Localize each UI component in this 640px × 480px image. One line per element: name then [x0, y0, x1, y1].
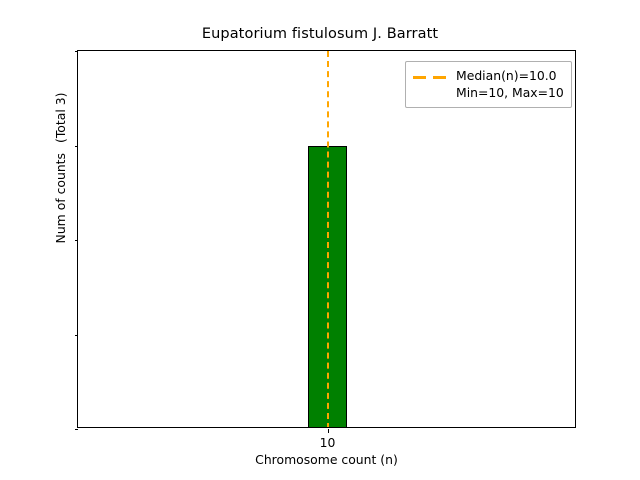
chart-figure: Eupatorium fistulosum J. Barratt 4 3 2 1… — [0, 0, 640, 480]
median-line — [327, 51, 329, 427]
ytick-mark-1 — [75, 335, 79, 336]
y-axis-label-line1: Num of counts — [53, 153, 68, 243]
x-axis-label: Chromosome count (n) — [77, 452, 576, 467]
xtick-mark-10 — [328, 429, 329, 433]
y-axis-label-line2: (Total 3) — [53, 93, 68, 143]
legend-row: Median(n)=10.0 Min=10, Max=10 — [413, 68, 564, 101]
legend-median-label: Median(n)=10.0 — [456, 68, 564, 85]
xtick-label-10: 10 — [298, 435, 358, 450]
ytick-mark-3 — [75, 146, 79, 147]
ytick-mark-2 — [75, 240, 79, 241]
legend-texts: Median(n)=10.0 Min=10, Max=10 — [456, 68, 564, 101]
legend: Median(n)=10.0 Min=10, Max=10 — [405, 61, 572, 108]
chart-title: Eupatorium fistulosum J. Barratt — [0, 26, 640, 42]
y-axis-label: Num of counts (Total 3) — [40, 0, 80, 378]
legend-minmax-label: Min=10, Max=10 — [456, 85, 564, 102]
ytick-mark-4 — [75, 51, 79, 52]
ytick-mark-0 — [75, 429, 79, 430]
median-line-swatch — [413, 71, 448, 85]
plot-area: 4 3 2 1 0 10 Median(n)=10.0 Min=10, Max=… — [77, 50, 576, 428]
